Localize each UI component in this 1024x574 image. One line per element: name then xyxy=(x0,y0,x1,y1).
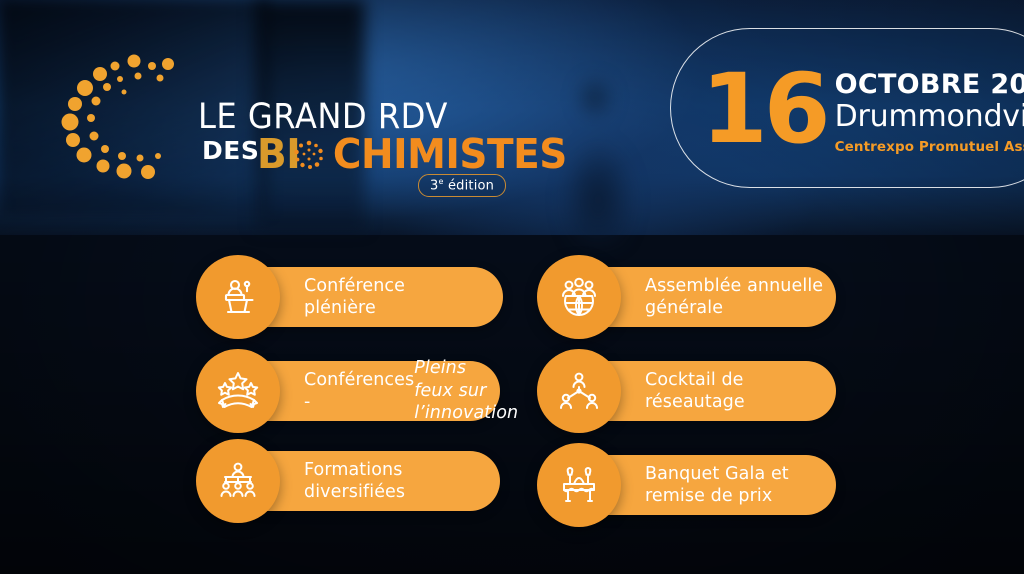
stars-ribbon-award-icon xyxy=(196,349,280,433)
pill-banquet-gala[interactable]: Banquet Gala et remise de prix xyxy=(537,455,836,515)
pill-label-banquet-gala: Banquet Gala et remise de prix xyxy=(645,455,789,515)
pill-label-conferences-pleins-feux: Conférences - Pleins feux sur l’innovati… xyxy=(304,361,518,421)
network-people-icon xyxy=(537,349,621,433)
pill-label-italic: Pleins feux sur l’innovation xyxy=(414,357,518,424)
globe-people-icon xyxy=(537,255,621,339)
pill-label-formations-diversifiees: Formations diversifiées xyxy=(304,451,405,511)
pill-assemblee-annuelle-generale[interactable]: Assemblée annuelle générale xyxy=(537,267,836,327)
program-highlights: Conférence plénière Conférences - Pleins… xyxy=(0,0,1024,574)
pill-conferences-pleins-feux[interactable]: Conférences - Pleins feux sur l’innovati… xyxy=(196,361,500,421)
podium-speaker-icon xyxy=(196,255,280,339)
pill-label-cocktail-reseautage: Cocktail de réseautage xyxy=(645,361,745,421)
pill-label-conference-pleniere: Conférence plénière xyxy=(304,267,405,327)
training-group-icon xyxy=(196,439,280,523)
pill-label-assemblee-annuelle-generale: Assemblée annuelle générale xyxy=(645,267,823,327)
event-promo-banner: LE GRAND RDV DES BIOCHIMISTES xyxy=(0,0,1024,574)
pill-conference-pleniere[interactable]: Conférence plénière xyxy=(196,267,503,327)
banquet-table-icon xyxy=(537,443,621,527)
pill-formations-diversifiees[interactable]: Formations diversifiées xyxy=(196,451,500,511)
pill-cocktail-reseautage[interactable]: Cocktail de réseautage xyxy=(537,361,836,421)
pill-label-prefix: Conférences - xyxy=(304,369,414,414)
